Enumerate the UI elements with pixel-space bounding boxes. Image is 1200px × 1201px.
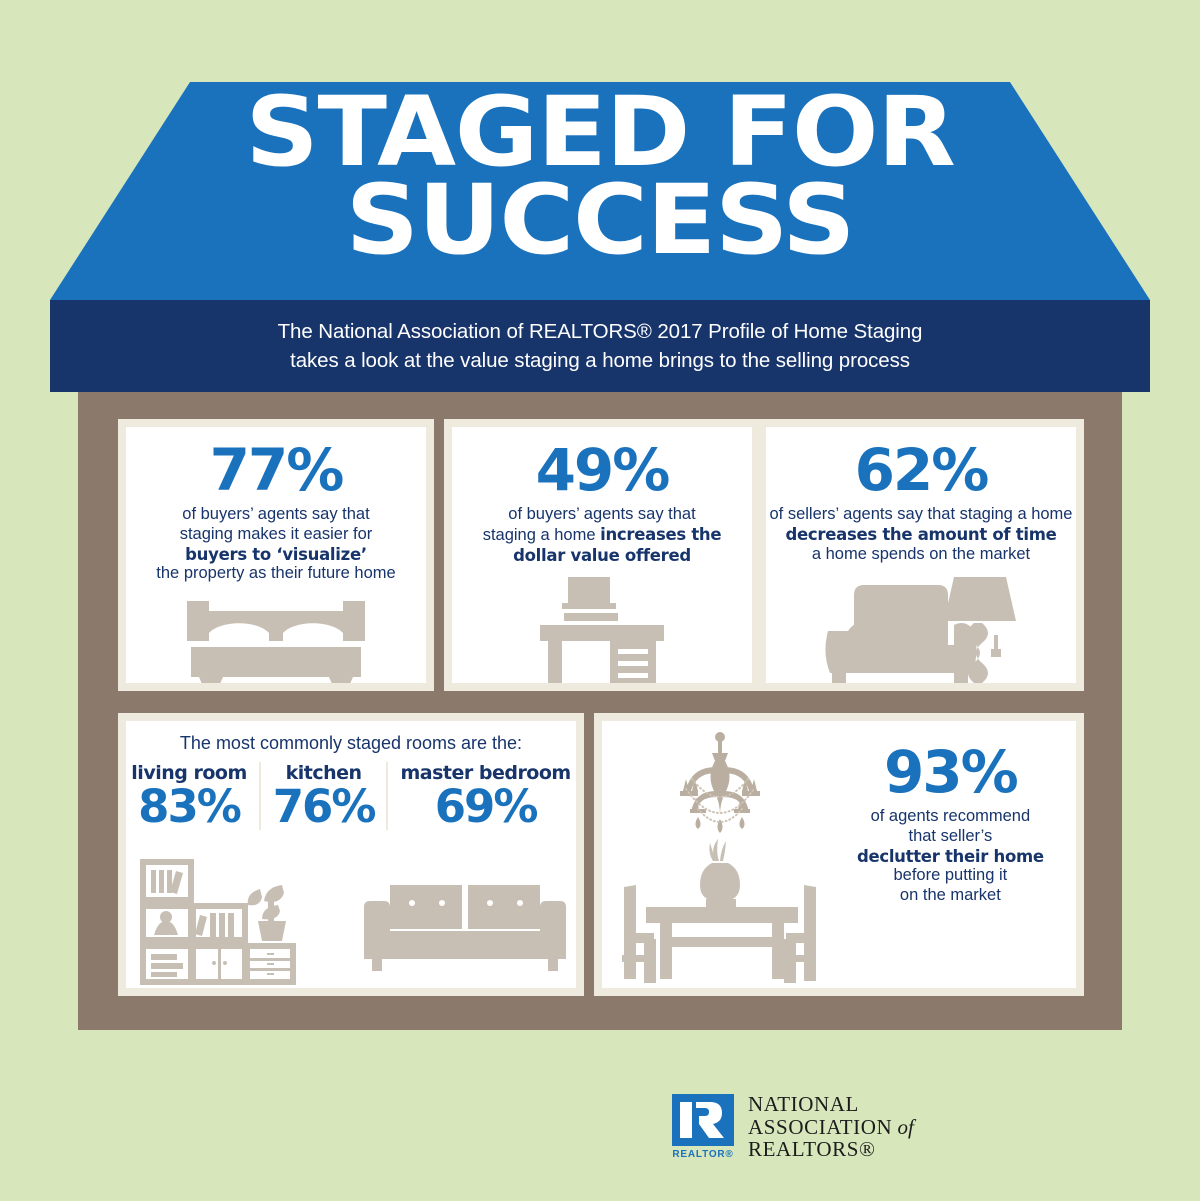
declutter-icons-column bbox=[602, 721, 825, 988]
card-time-on-market: 62% of sellers’ agents say that staging … bbox=[758, 419, 1084, 691]
armchair-lamp-icon bbox=[818, 573, 1028, 691]
stat-49-percent: 49% bbox=[452, 441, 752, 499]
bookshelf-icon-svg bbox=[140, 859, 296, 985]
nar-logo-line-2-italic: of bbox=[892, 1115, 914, 1139]
card-93-line-1: of agents recommend bbox=[857, 807, 1044, 827]
card-93-line-2: that seller’s bbox=[857, 827, 1044, 847]
stat-62-percent: 62% bbox=[766, 441, 1076, 499]
chandelier-icon-svg bbox=[658, 731, 782, 849]
room-value-kitchen: 76% bbox=[273, 784, 375, 830]
infographic-root: STAGED FOR SUCCESS The National Associat… bbox=[0, 0, 1200, 1201]
card-77-line-2: staging makes it easier for bbox=[126, 525, 426, 545]
subtitle-band: The National Association of REALTORS® 20… bbox=[50, 300, 1150, 392]
card-buyers-visualize: 77% of buyers’ agents say that staging m… bbox=[118, 419, 434, 691]
room-value-master-bedroom: 69% bbox=[400, 784, 570, 830]
card-49-line-1: of buyers’ agents say that bbox=[452, 505, 752, 525]
card-93-line-3: declutter their home bbox=[857, 847, 1044, 867]
card-93-line-4: before putting it bbox=[857, 866, 1044, 886]
nar-logo-line-2-wrap: ASSOCIATION of bbox=[748, 1116, 914, 1139]
realtor-wordmark: REALTOR® bbox=[672, 1149, 734, 1160]
bed-icon bbox=[183, 599, 369, 691]
card-77-line-4: the property as their future home bbox=[126, 564, 426, 584]
card-77-line-3: buyers to ‘visualize’ bbox=[126, 545, 426, 565]
desk-icon bbox=[540, 577, 664, 691]
staged-rooms-row: living room 83% kitchen 76% master bedro… bbox=[126, 762, 576, 830]
card-93-line-5: on the market bbox=[857, 886, 1044, 906]
declutter-text-column: 93% of agents recommend that seller’s de… bbox=[825, 721, 1076, 988]
card-staged-rooms: The most commonly staged rooms are the: … bbox=[118, 713, 584, 996]
card-49-line-2-plain: staging a home bbox=[483, 526, 600, 544]
card-62-line-2: decreases the amount of time bbox=[766, 525, 1076, 545]
subtitle-line-2: takes a look at the value staging a home… bbox=[290, 346, 910, 375]
card-77-line-1: of buyers’ agents say that bbox=[126, 505, 426, 525]
nar-logo: REALTOR® NATIONAL ASSOCIATION of REALTOR… bbox=[672, 1088, 1072, 1166]
staged-rooms-heading: The most commonly staged rooms are the: bbox=[126, 721, 576, 754]
card-49-line-2-bold: increases the bbox=[600, 525, 721, 544]
card-62-line-3: a home spends on the market bbox=[766, 545, 1076, 565]
sofa-icon-svg bbox=[364, 873, 574, 979]
card-49-line-3: dollar value offered bbox=[452, 546, 752, 566]
nar-logo-line-2: ASSOCIATION bbox=[748, 1115, 892, 1139]
dining-table-icon bbox=[626, 837, 816, 994]
stat-77-percent: 77% bbox=[126, 441, 426, 499]
dining-table-icon-svg bbox=[626, 837, 816, 989]
roof-shape bbox=[0, 82, 1200, 302]
card-62-line-1: of sellers’ agents say that staging a ho… bbox=[766, 505, 1076, 525]
room-stat-living-room: living room 83% bbox=[119, 762, 258, 830]
subtitle-line-1: The National Association of REALTORS® 20… bbox=[278, 317, 923, 346]
card-declutter: 93% of agents recommend that seller’s de… bbox=[594, 713, 1084, 996]
nar-logo-line-3: REALTORS® bbox=[748, 1138, 914, 1161]
nar-logo-text: NATIONAL ASSOCIATION of REALTORS® bbox=[748, 1093, 914, 1161]
room-stat-master-bedroom: master bedroom 69% bbox=[386, 762, 582, 830]
nar-logo-line-1: NATIONAL bbox=[748, 1093, 914, 1116]
chandelier-icon bbox=[658, 731, 782, 854]
stat-93-percent: 93% bbox=[884, 743, 1017, 801]
sofa-icon bbox=[364, 873, 574, 984]
room-value-living-room: 83% bbox=[131, 784, 246, 830]
roof-polygon-svg bbox=[0, 82, 1200, 304]
realtor-r-icon: REALTOR® bbox=[672, 1094, 734, 1160]
desk-icon-svg bbox=[540, 577, 664, 689]
armchair-lamp-icon-svg bbox=[818, 573, 1028, 691]
room-stat-kitchen: kitchen 76% bbox=[259, 762, 387, 830]
card-49-line-2: staging a home increases the bbox=[452, 525, 752, 546]
bookshelf-icon bbox=[140, 859, 296, 990]
bed-icon-svg bbox=[183, 599, 369, 691]
card-dollar-value: 49% of buyers’ agents say that staging a… bbox=[444, 419, 760, 691]
